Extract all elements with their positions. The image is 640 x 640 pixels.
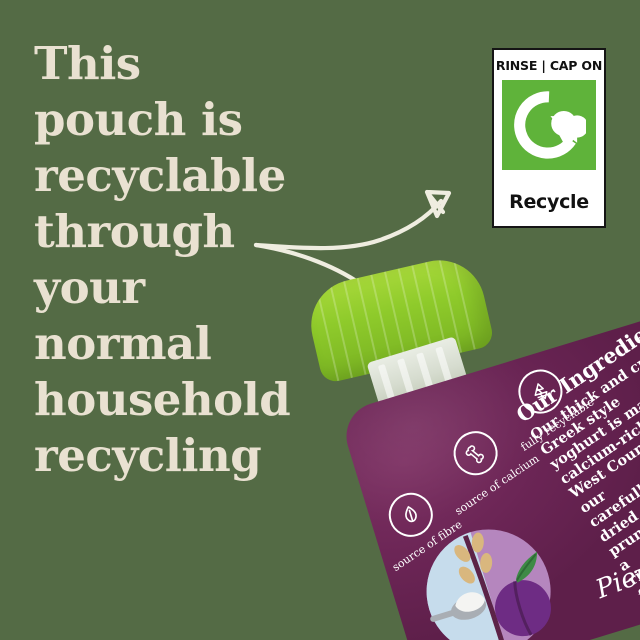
leaf-icon — [383, 487, 438, 542]
headline-line-8: recycling — [34, 428, 364, 484]
headline-line-2: pouch is — [34, 92, 364, 148]
recycle-loop-arrow-icon — [512, 88, 586, 162]
claim-label-calcium: source of calcium — [453, 452, 542, 518]
recycle-label-instruction: RINSE | CAP ON — [496, 58, 602, 73]
headline-line-4: through — [34, 204, 364, 260]
product-pouch: source of fibre source of calcium fully … — [316, 352, 640, 640]
bone-icon — [448, 426, 503, 481]
headline-line-1: This — [34, 36, 364, 92]
headline-line-3: recyclable — [34, 148, 364, 204]
poster-canvas: This pouch is recyclable through your no… — [0, 0, 640, 640]
bowl-spoon-yoghurt-oat-plum-illustration — [406, 509, 571, 640]
arrow-head-to-label — [427, 192, 449, 216]
recycle-label-green-panel — [502, 80, 596, 170]
headline-line-7: household — [34, 372, 364, 428]
page-title: This pouch is recyclable through your no… — [34, 36, 364, 484]
recycle-label-word: Recycle — [509, 191, 589, 213]
recycle-label: RINSE | CAP ON Recycle — [492, 48, 606, 228]
